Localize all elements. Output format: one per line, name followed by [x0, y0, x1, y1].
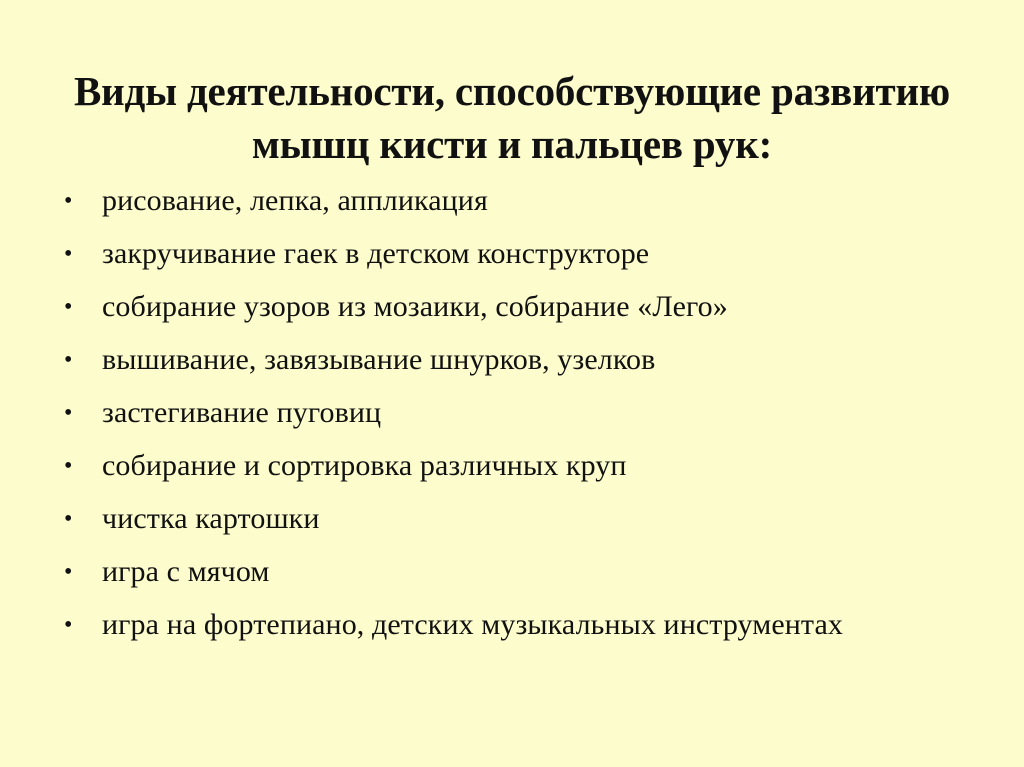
page-title: Виды деятельности, способствующие развит… — [52, 65, 972, 171]
list-item: • собирание узоров из мозаики, собирание… — [56, 286, 976, 328]
list-item: • игра с мячом — [56, 551, 976, 593]
presentation-slide: Виды деятельности, способствующие развит… — [0, 0, 1024, 767]
list-item-label: чистка картошки — [102, 498, 976, 540]
bullet-point-icon: • — [64, 445, 76, 487]
list-item: • закручивание гаек в детском конструкто… — [56, 233, 976, 275]
activities-bullet-list: • рисование, лепка, аппликация • закручи… — [56, 180, 976, 646]
bullet-point-icon: • — [64, 180, 76, 222]
list-item: • рисование, лепка, аппликация — [56, 180, 976, 222]
list-item: • вышивание, завязывание шнурков, узелко… — [56, 339, 976, 381]
list-item-label: собирание и сортировка различных круп — [102, 445, 976, 487]
list-item: • застегивание пуговиц — [56, 392, 976, 434]
list-item-label: игра с мячом — [102, 551, 976, 593]
list-item: • игра на фортепиано, детских музыкальны… — [56, 604, 976, 646]
list-item: • чистка картошки — [56, 498, 976, 540]
list-item-label: застегивание пуговиц — [102, 392, 976, 434]
bullet-point-icon: • — [64, 604, 76, 646]
bullet-point-icon: • — [64, 339, 76, 381]
bullet-point-icon: • — [64, 551, 76, 593]
list-item-label: закручивание гаек в детском конструкторе — [102, 233, 976, 275]
list-item-label: игра на фортепиано, детских музыкальных … — [102, 604, 976, 646]
bullet-point-icon: • — [64, 286, 76, 328]
bullet-point-icon: • — [64, 498, 76, 540]
list-item: • собирание и сортировка различных круп — [56, 445, 976, 487]
list-item-label: рисование, лепка, аппликация — [102, 180, 976, 222]
list-item-label: собирание узоров из мозаики, собирание «… — [102, 286, 976, 328]
list-item-label: вышивание, завязывание шнурков, узелков — [102, 339, 976, 381]
bullet-point-icon: • — [64, 233, 76, 275]
bullet-point-icon: • — [64, 392, 76, 434]
